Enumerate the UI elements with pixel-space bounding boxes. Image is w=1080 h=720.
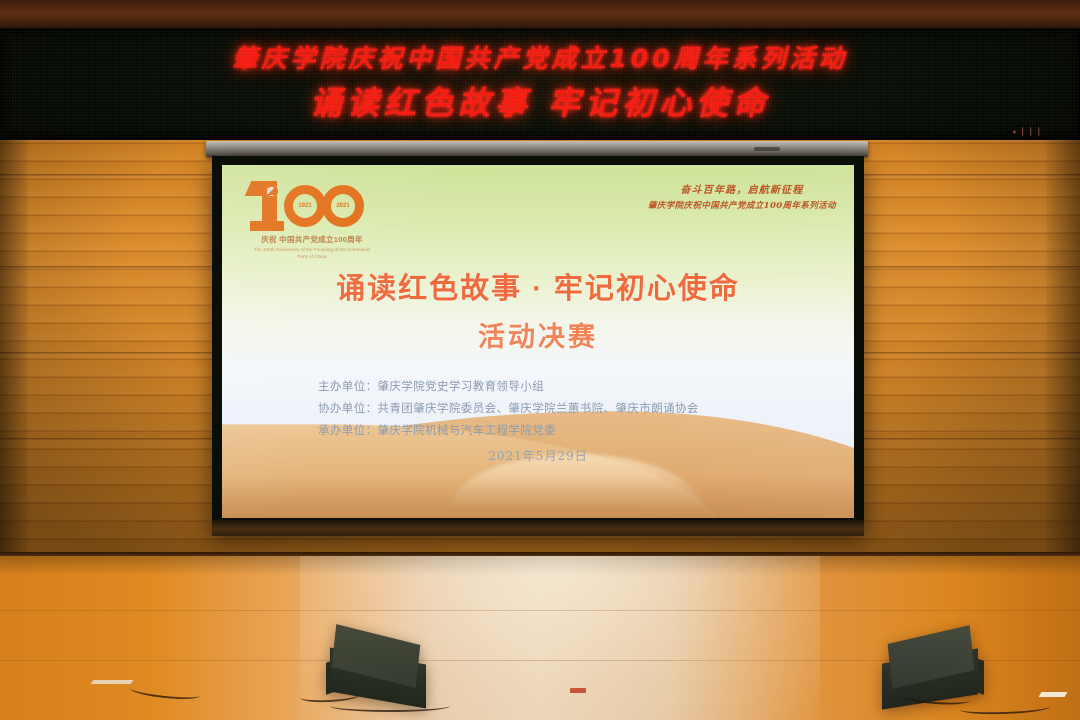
logo-digit-zero-right: 2021 <box>322 185 364 227</box>
slogan-line-1: 奋斗百年路，启航新征程 <box>648 181 836 196</box>
cpc-100-anniversary-logo: 1921 2021 庆祝 中国共产党成立100周年 The 100th Anni… <box>248 179 376 261</box>
ceiling-strip <box>0 0 1080 30</box>
organizer-line-host: 主办单位：肇庆学院党史学习教育领导小组 <box>318 376 699 398</box>
logo-numeral-mark: 1921 2021 <box>248 179 370 231</box>
logo-digit-zero-left: 1921 <box>284 185 326 227</box>
slide-slogan-block: 奋斗百年路，启航新征程 肇庆学院庆祝中国共产党成立100周年系列活动 <box>648 181 836 211</box>
logo-chinese-caption: 庆祝 中国共产党成立100周年 <box>248 234 376 245</box>
floor-paper-prop <box>1039 692 1068 697</box>
roller-label <box>754 147 780 151</box>
floor-seam <box>0 610 1080 611</box>
logo-english-caption: The 100th Anniversary of the Founding of… <box>248 247 376 261</box>
led-banner: 肇庆学院庆祝中国共产党成立100周年系列活动 诵读红色故事 牢记初心使命 ● ┃… <box>0 28 1080 140</box>
audio-cable <box>330 700 450 712</box>
hammer-sickle-icon <box>265 185 278 198</box>
logo-year-2021: 2021 <box>336 203 349 209</box>
slide-organizer-list: 主办单位：肇庆学院党史学习教育领导小组 协办单位：共青团肇庆学院委员会、肇庆学院… <box>318 376 699 442</box>
screen-bottom-bar <box>212 520 864 536</box>
projection-screen-roller <box>206 141 868 157</box>
logo-year-1921: 1921 <box>298 203 311 209</box>
led-banner-line-1: 肇庆学院庆祝中国共产党成立100周年系列活动 <box>0 28 1080 71</box>
floor-marker-tape <box>570 688 586 693</box>
projection-screen-surface: 1921 2021 庆祝 中国共产党成立100周年 The 100th Anni… <box>222 165 854 518</box>
organizer-line-undertaker: 承办单位：肇庆学院机械与汽车工程学院党委 <box>318 420 699 442</box>
slogan-line-2: 肇庆学院庆祝中国共产党成立100周年系列活动 <box>648 199 836 211</box>
dune-shadow <box>222 476 854 518</box>
floor-stand-base <box>90 680 133 684</box>
slide-date: 2021年5月29日 <box>222 447 854 464</box>
slide-subtitle: 活动决赛 <box>222 315 854 354</box>
logo-one-base <box>250 221 284 231</box>
organizer-line-coorganizer: 协办单位：共青团肇庆学院委员会、肇庆学院兰蕙书院、肇庆市朗诵协会 <box>318 398 699 420</box>
projection-screen-frame: 1921 2021 庆祝 中国共产党成立100周年 The 100th Anni… <box>212 156 864 532</box>
led-corner-mark: ● ┃ ┃ ┃ <box>1012 128 1042 136</box>
auditorium-stage-photo: 肇庆学院庆祝中国共产党成立100周年系列活动 诵读红色故事 牢记初心使命 ● ┃… <box>0 0 1080 720</box>
led-banner-line-2: 诵读红色故事 牢记初心使命 <box>0 71 1080 119</box>
slide-main-title: 诵读红色故事 · 牢记初心使命 <box>222 265 854 307</box>
